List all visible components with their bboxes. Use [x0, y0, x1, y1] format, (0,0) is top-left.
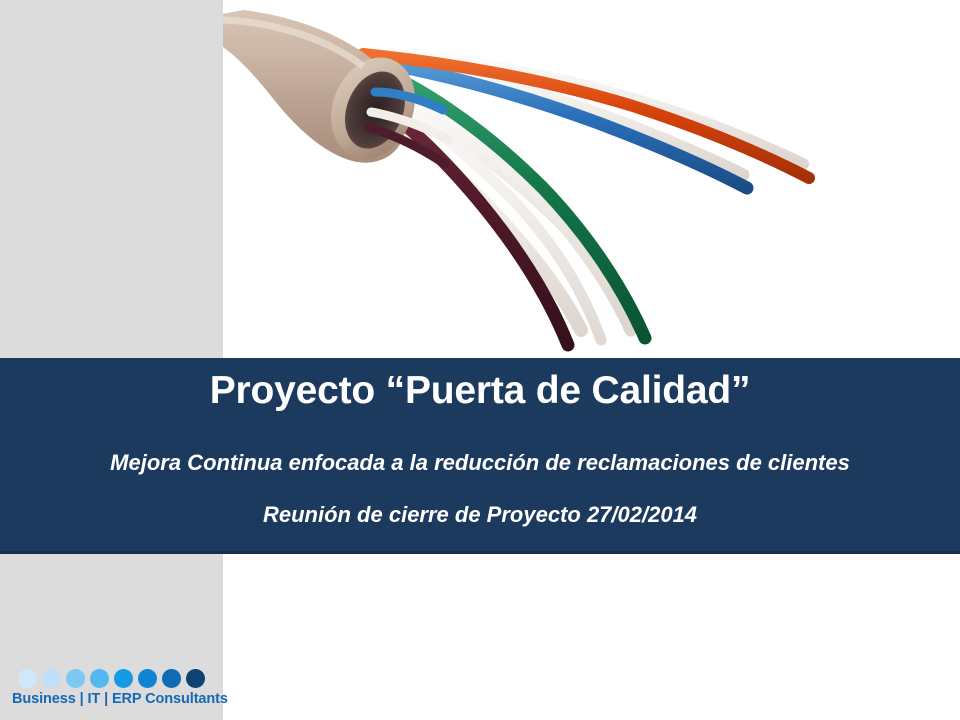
logo-dot-row: [18, 668, 218, 688]
slide-subtitle-secondary: Reunión de cierre de Proyecto 27/02/2014: [0, 501, 960, 529]
logo-dot-1: [18, 669, 37, 688]
cable-photo-illustration: [223, 0, 960, 358]
logo-dot-3: [66, 669, 85, 688]
logo-dot-2: [42, 669, 61, 688]
logo-tagline: Business | IT | ERP Consultants: [12, 691, 227, 707]
logo-dot-6: [138, 669, 157, 688]
slide-subtitle-primary: Mejora Continua enfocada a la reducción …: [0, 449, 960, 477]
logo-dot-8: [186, 669, 205, 688]
logo-dot-7: [162, 669, 181, 688]
presentation-slide: Proyecto “Puerta de Calidad” Mejora Cont…: [0, 0, 960, 720]
slide-title: Proyecto “Puerta de Calidad”: [0, 368, 960, 414]
logo-dot-4: [90, 669, 109, 688]
company-logo: Business | IT | ERP Consultants: [0, 660, 223, 716]
cable-photo: [223, 0, 960, 358]
logo-dot-5: [114, 669, 133, 688]
title-banner-bottom-edge: [0, 551, 960, 554]
title-banner: Proyecto “Puerta de Calidad” Mejora Cont…: [0, 358, 960, 554]
